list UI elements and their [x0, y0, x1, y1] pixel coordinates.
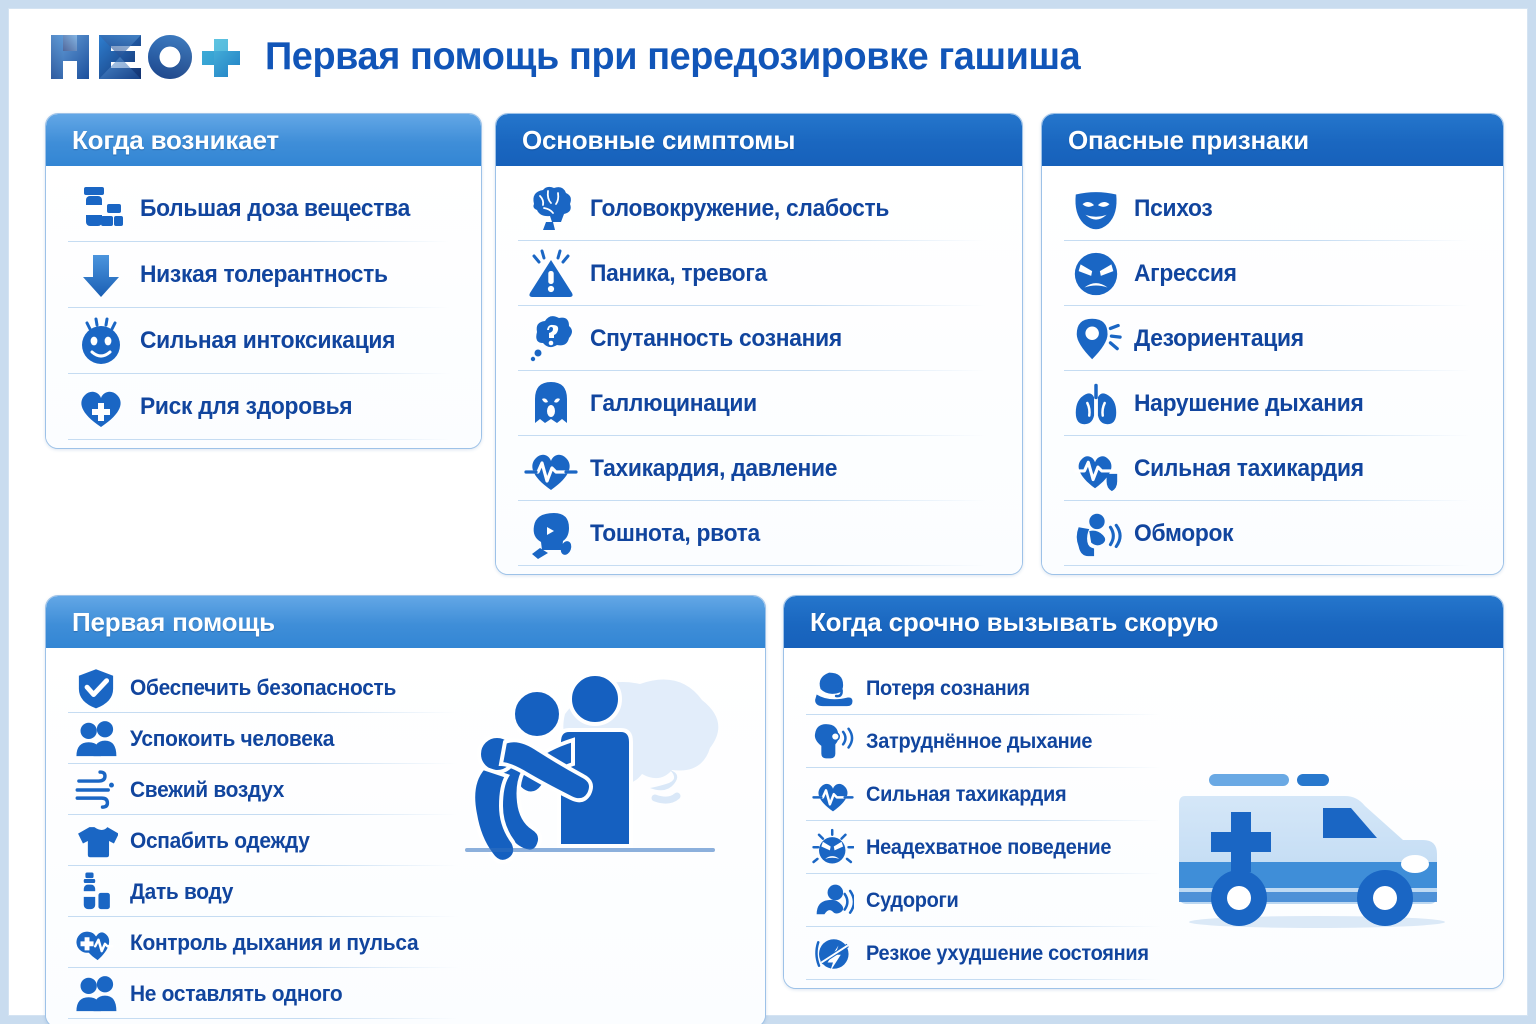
list-item-label: Сильная тахикардия: [1134, 455, 1364, 483]
card-main-symptoms: Основные симптомы Головокружение, слабос…: [495, 113, 1023, 575]
shield-check-icon: [72, 665, 120, 711]
card-when-occurs-header: Когда возникает: [46, 114, 481, 166]
list-item[interactable]: Сильная тахикардия: [784, 768, 1244, 821]
list-item[interactable]: Сильная интоксикация: [46, 308, 481, 374]
separator: [806, 979, 1161, 980]
brain-icon: [522, 180, 580, 238]
list-item[interactable]: Контроль дыхания и пульса: [46, 917, 506, 968]
water-bottle-icon: [72, 869, 120, 915]
list-item[interactable]: Психоз: [1042, 176, 1503, 241]
breathing-difficulty-icon: [810, 720, 856, 764]
angry-face-icon: [1068, 246, 1124, 302]
question-cloud-icon: [522, 310, 580, 368]
heart-pulse-icon: [810, 773, 856, 817]
separator: [1064, 565, 1470, 566]
list-item-label: Обморок: [1134, 520, 1233, 548]
two-people-supporting-illustration: [465, 662, 755, 897]
list-item[interactable]: Резкое ухудшение состояния: [784, 927, 1244, 980]
list-item-label: Контроль дыхания и пульса: [130, 930, 418, 956]
card-danger-signs-header: Опасные признаки: [1042, 114, 1503, 166]
card-first-aid-title: Первая помощь: [72, 607, 275, 638]
heart-pulse-icon: [522, 440, 580, 498]
list-item[interactable]: Неадехватное поведение: [784, 821, 1244, 874]
card-call-ambulance-body: Потеря сознания Затруднённое дыхание: [784, 648, 1503, 988]
down-arrow-icon: [72, 246, 130, 304]
list-item[interactable]: Галлюцинации: [496, 371, 1022, 436]
list-item-label: Не оставлять одного: [130, 981, 342, 1007]
list-item-label: Сильная интоксикация: [140, 327, 395, 355]
card-danger-signs-title: Опасные признаки: [1068, 125, 1309, 156]
list-item[interactable]: Потеря сознания: [784, 662, 1244, 715]
list-item[interactable]: Спутанность сознания: [496, 306, 1022, 371]
heart-pulse-shield-icon: [1068, 441, 1124, 497]
card-when-occurs-title: Когда возникает: [72, 125, 279, 156]
list-item-label: Нарушение дыхания: [1134, 390, 1363, 418]
list-item-label: Обеспечить безопасность: [130, 675, 396, 701]
wind-icon: [72, 767, 120, 813]
list-item[interactable]: Обморок: [1042, 501, 1503, 566]
warning-triangle-icon: [522, 245, 580, 303]
list-item-label: Дать воду: [130, 879, 233, 905]
card-main-symptoms-title: Основные симптомы: [522, 125, 795, 156]
list-item-label: Оспабить одежду: [130, 828, 310, 854]
list-item-label: Сильная тахикардия: [866, 783, 1066, 807]
card-call-ambulance-header: Когда срочно вызывать скорую: [784, 596, 1503, 648]
page-header: Первая помощь при передозировке гашиша: [9, 9, 1527, 105]
list-item[interactable]: Дать воду: [46, 866, 506, 917]
agitated-face-icon: [810, 826, 856, 870]
list-item-label: Неадехватное поведение: [866, 836, 1111, 860]
list-item-label: Паника, тревога: [590, 260, 767, 288]
list-item[interactable]: Не оставлять одного: [46, 968, 506, 1019]
card-when-occurs-body: Большая доза вещества Низкая толерантнос…: [46, 166, 481, 448]
evil-mask-icon: [1068, 181, 1124, 237]
list-item-label: Агрессия: [1134, 260, 1237, 288]
medicine-bottle-icon: [72, 180, 130, 238]
heart-cross-pulse-icon: [72, 920, 120, 966]
two-people-icon: [72, 971, 120, 1017]
card-first-aid-body: Обеспечить безопасность Успокоить челове…: [46, 648, 765, 1024]
list-item[interactable]: Успокоить человека: [46, 713, 506, 764]
card-danger-signs: Опасные признаки Психоз: [1041, 113, 1504, 575]
list-item-label: Тошнота, рвота: [590, 520, 760, 548]
list-item-label: Успокоить человека: [130, 726, 334, 752]
separator: [518, 565, 986, 566]
two-people-icon: [72, 716, 120, 762]
neo-plus-logo-icon: [47, 29, 243, 85]
list-item[interactable]: Паника, тревога: [496, 241, 1022, 306]
list-item[interactable]: Головокружение, слабость: [496, 176, 1022, 241]
list-item-label: Тахикардия, давление: [590, 455, 837, 483]
list-item[interactable]: Обеспечить безопасность: [46, 662, 506, 713]
list-item[interactable]: Риск для здоровья: [46, 374, 481, 440]
list-item[interactable]: Тахикардия, давление: [496, 436, 1022, 501]
list-item-label: Большая доза вещества: [140, 195, 410, 223]
first-aid-list: Обеспечить безопасность Успокоить челове…: [46, 662, 506, 1019]
card-first-aid-header: Первая помощь: [46, 596, 765, 648]
infographic-page: Первая помощь при передозировке гашиша К…: [8, 8, 1528, 1016]
card-main-symptoms-header: Основные симптомы: [496, 114, 1022, 166]
list-item-label: Судороги: [866, 889, 959, 913]
list-item[interactable]: Большая доза вещества: [46, 176, 481, 242]
list-item-label: Спутанность сознания: [590, 325, 842, 353]
card-call-ambulance: Когда срочно вызывать скорую: [783, 595, 1504, 989]
tshirt-icon: [72, 818, 120, 864]
list-item[interactable]: Низкая толерантность: [46, 242, 481, 308]
list-item-label: Дезориентация: [1134, 325, 1304, 353]
card-call-ambulance-title: Когда срочно вызывать скорую: [810, 607, 1218, 638]
ghost-icon: [522, 375, 580, 433]
dizzy-face-icon: [72, 312, 130, 370]
list-item[interactable]: Затруднённое дыхание: [784, 715, 1244, 768]
card-when-occurs: Когда возникает Большая доза вещества: [45, 113, 482, 449]
list-item-label: Психоз: [1134, 195, 1212, 223]
card-main-symptoms-body: Головокружение, слабость Паника, тревога: [496, 166, 1022, 574]
list-item-label: Низкая толерантность: [140, 261, 388, 289]
fainting-person-icon: [1068, 506, 1124, 562]
list-item-label: Потеря сознания: [866, 677, 1030, 701]
convulsions-person-icon: [810, 879, 856, 923]
list-item-label: Свежий воздух: [130, 777, 284, 803]
list-item[interactable]: Оспабить одежду: [46, 815, 506, 866]
unconscious-person-icon: [810, 667, 856, 711]
lungs-icon: [1068, 376, 1124, 432]
list-item-label: Галлюцинации: [590, 390, 757, 418]
separator: [68, 1018, 458, 1019]
card-first-aid: Первая помощь: [45, 595, 766, 1024]
list-item[interactable]: Агрессия: [1042, 241, 1503, 306]
vomiting-head-icon: [522, 505, 580, 563]
list-item-label: Риск для здоровья: [140, 393, 352, 421]
list-item-label: Резкое ухудшение состояния: [866, 942, 1149, 966]
separator: [68, 439, 450, 440]
sharp-decline-icon: [810, 932, 856, 976]
disoriented-head-icon: [1068, 311, 1124, 367]
list-item-label: Затруднённое дыхание: [866, 730, 1092, 754]
emergency-list: Потеря сознания Затруднённое дыхание: [784, 662, 1244, 980]
list-item[interactable]: Сильная тахикардия: [1042, 436, 1503, 501]
list-item[interactable]: Дезориентация: [1042, 306, 1503, 371]
list-item-label: Головокружение, слабость: [590, 195, 889, 223]
list-item[interactable]: Тошнота, рвота: [496, 501, 1022, 566]
list-item[interactable]: Судороги: [784, 874, 1244, 927]
list-item[interactable]: Нарушение дыхания: [1042, 371, 1503, 436]
heart-cross-icon: [72, 378, 130, 436]
page-title: Первая помощь при передозировке гашиша: [265, 35, 1080, 79]
list-item[interactable]: Свежий воздух: [46, 764, 506, 815]
card-danger-signs-body: Психоз Агрессия: [1042, 166, 1503, 574]
